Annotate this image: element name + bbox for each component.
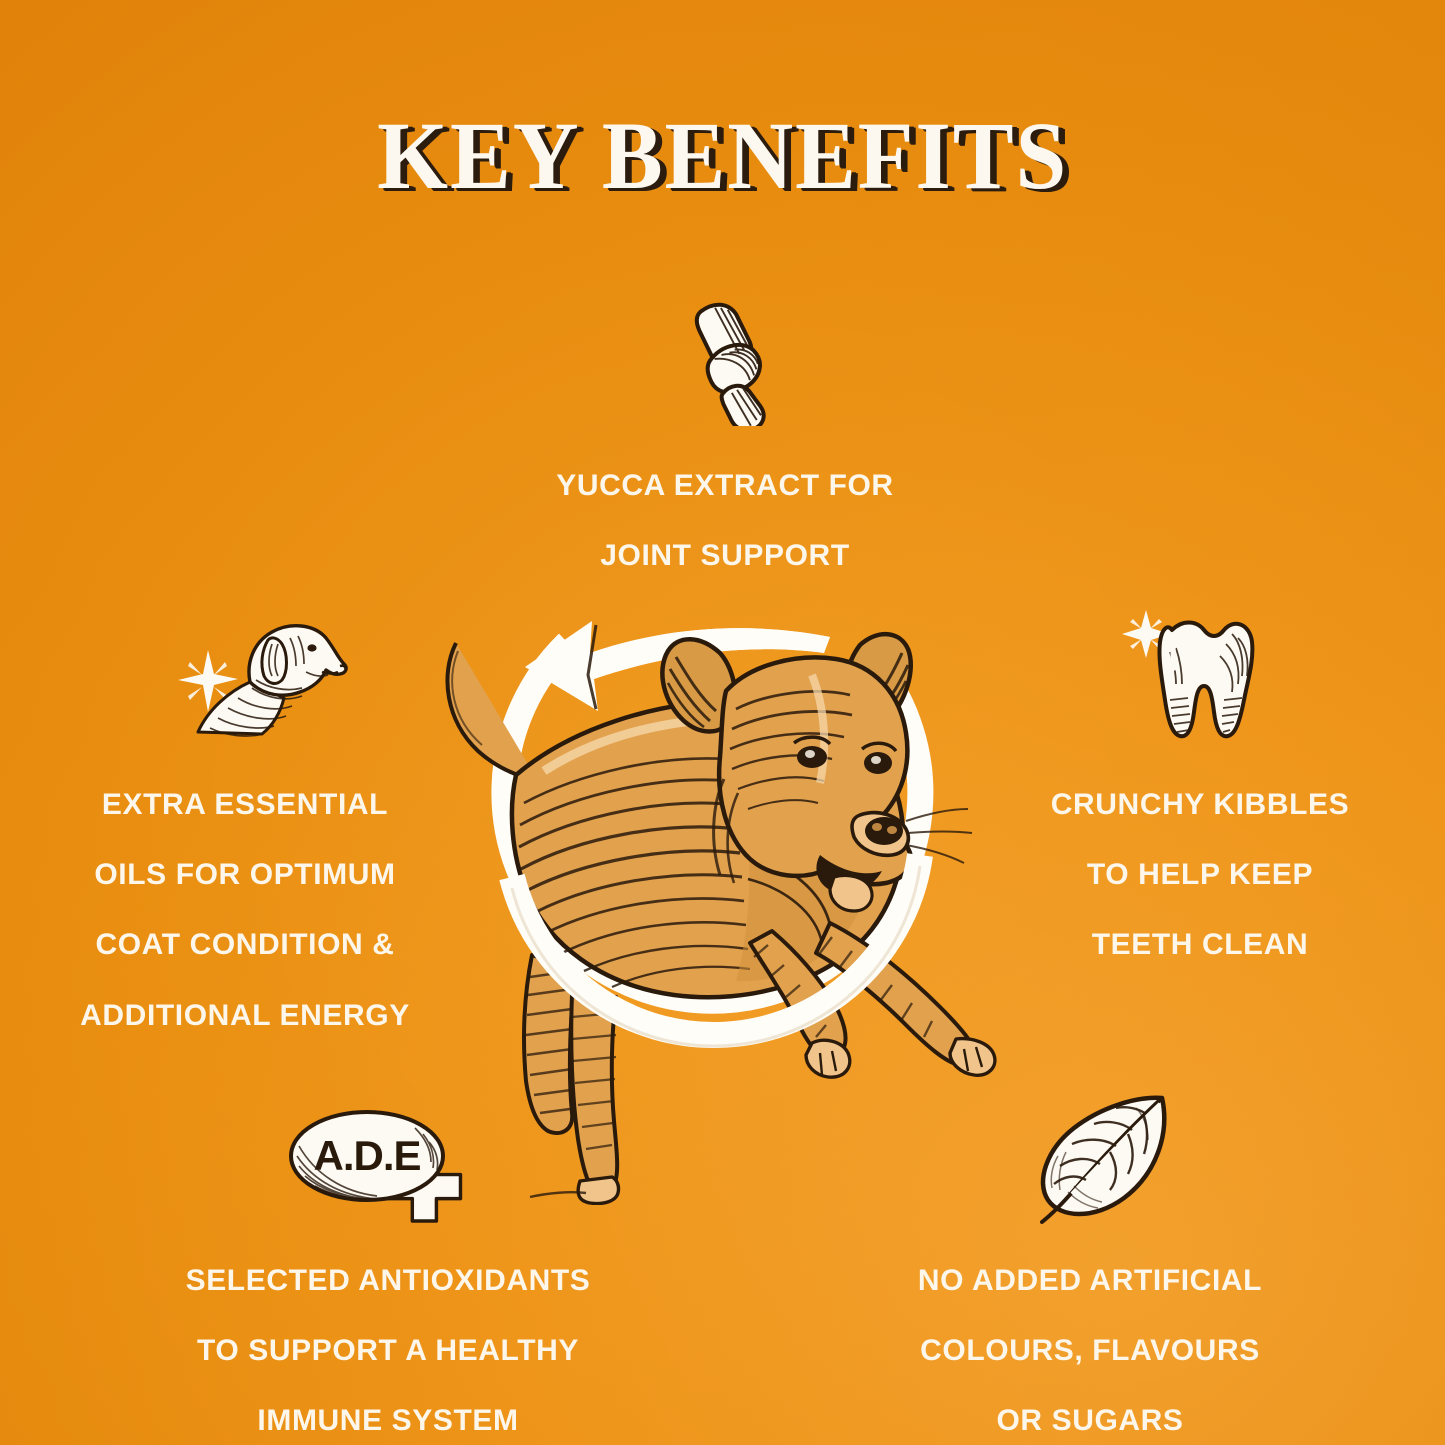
benefit-label-kibble: CRUNCHY KIBBLES TO HELP KEEP TEETH CLEAN [1000,752,1400,998]
page-title: KEY BENEFITS [377,108,1068,204]
label-line: ADDITIONAL ENERGY [30,998,460,1033]
leaf-icon [1028,1090,1183,1230]
label-line: COAT CONDITION & [30,927,460,962]
label-line: TO HELP KEEP [1000,857,1400,892]
benefit-label-coat: EXTRA ESSENTIAL OILS FOR OPTIMUM COAT CO… [30,752,460,1068]
benefit-label-antioxidants: SELECTED ANTIOXIDANTS TO SUPPORT A HEALT… [128,1228,648,1445]
label-line: CRUNCHY KIBBLES [1000,787,1400,822]
label-line: IMMUNE SYSTEM [128,1403,648,1438]
label-line: COLOURS, FLAVOURS [855,1333,1325,1368]
label-line: EXTRA ESSENTIAL [30,787,460,822]
benefit-label-natural: NO ADDED ARTIFICIAL COLOURS, FLAVOURS OR… [855,1228,1325,1445]
benefit-label-yucca: YUCCA EXTRACT FOR JOINT SUPPORT [445,433,1005,608]
label-line: NO ADDED ARTIFICIAL [855,1263,1325,1298]
vitamin-ade-plus-pill-icon: A.D.E + [285,1100,470,1230]
page-title-wrap: KEY BENEFITS [0,108,1445,204]
knee-joint-bone-icon [655,296,795,426]
label-line: TEETH CLEAN [1000,927,1400,962]
label-line: JOINT SUPPORT [445,538,1005,573]
sparkling-tooth-icon [1120,608,1265,743]
center-illustration [420,525,1020,1205]
label-line: YUCCA EXTRACT FOR [445,468,1005,503]
label-line: OR SUGARS [855,1403,1325,1438]
label-line: OILS FOR OPTIMUM [30,857,460,892]
ade-icon-text: A.D.E [313,1132,420,1179]
dog-head-sparkle-icon [172,610,352,740]
label-line: SELECTED ANTIOXIDANTS [128,1263,648,1298]
infographic-canvas: KEY BENEFITS [0,0,1445,1445]
label-line: TO SUPPORT A HEALTHY [128,1333,648,1368]
